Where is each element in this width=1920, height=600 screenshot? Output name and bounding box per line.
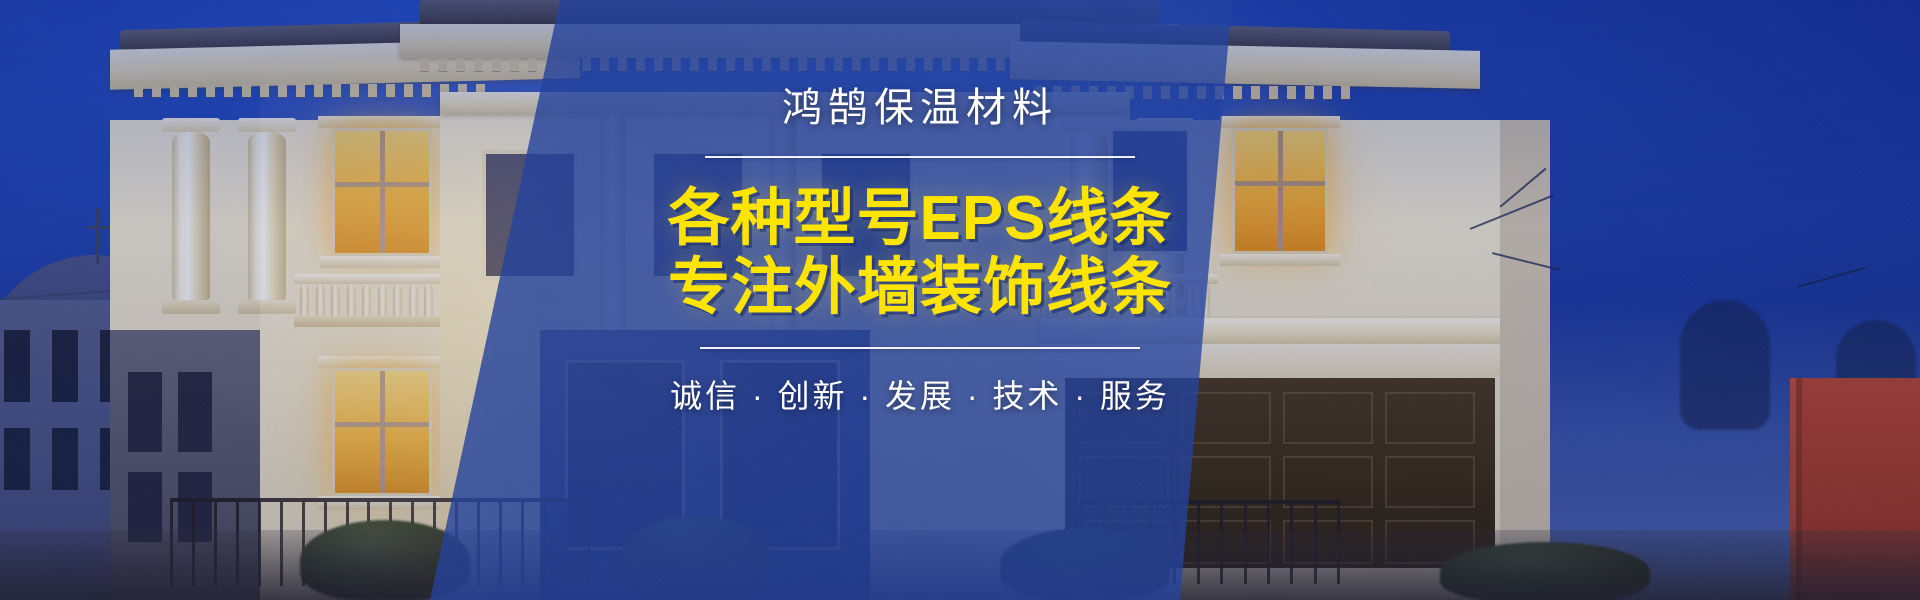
brand-name: 鸿鹄保温材料 bbox=[560, 86, 1280, 130]
headline-line-2: 专注外墙装饰线条 bbox=[560, 253, 1280, 322]
promo-banner: 鸿鹄保温材料 各种型号EPS线条 专注外墙装饰线条 诚信 · 创新 · 发展 ·… bbox=[0, 0, 1920, 600]
headline-line-1: 各种型号EPS线条 bbox=[560, 184, 1280, 253]
divider-top bbox=[705, 156, 1135, 158]
banner-copy: 鸿鹄保温材料 各种型号EPS线条 专注外墙装饰线条 诚信 · 创新 · 发展 ·… bbox=[560, 86, 1280, 417]
headline-block: 各种型号EPS线条 专注外墙装饰线条 bbox=[560, 184, 1280, 323]
divider-bottom bbox=[700, 347, 1140, 349]
tagline: 诚信 · 创新 · 发展 · 技术 · 服务 bbox=[560, 371, 1280, 417]
